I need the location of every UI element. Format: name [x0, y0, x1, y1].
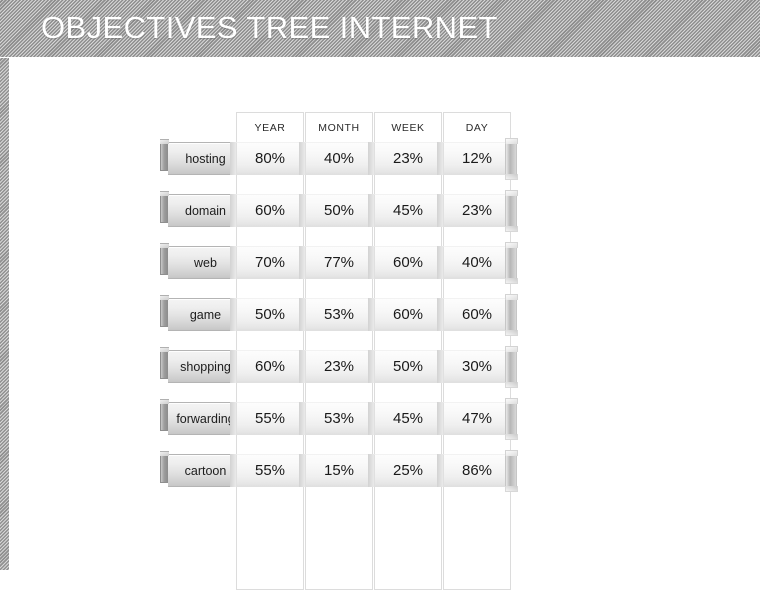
- cell-web-month[interactable]: 77%: [305, 246, 373, 279]
- cell-value: 15%: [324, 462, 354, 479]
- cell-web-week[interactable]: 60%: [374, 246, 442, 279]
- cell-forwarding-year[interactable]: 55%: [236, 402, 304, 435]
- row-end-extrusion: [505, 350, 517, 383]
- column-header-year: YEAR: [237, 113, 303, 143]
- cell-value: 50%: [255, 306, 285, 323]
- row-end-extrusion: [505, 194, 517, 227]
- cell-value: 40%: [462, 254, 492, 271]
- cell-domain-day[interactable]: 23%: [443, 194, 511, 227]
- cell-value: 50%: [324, 202, 354, 219]
- cell-domain-week[interactable]: 45%: [374, 194, 442, 227]
- cell-game-month[interactable]: 53%: [305, 298, 373, 331]
- cell-value: 50%: [393, 358, 423, 375]
- cell-domain-year[interactable]: 60%: [236, 194, 304, 227]
- cell-value: 86%: [462, 462, 492, 479]
- column-header-day: DAY: [444, 113, 510, 143]
- row-end-extrusion: [505, 402, 517, 435]
- column-header-week: WEEK: [375, 113, 441, 143]
- cell-forwarding-month[interactable]: 53%: [305, 402, 373, 435]
- cell-cartoon-week[interactable]: 25%: [374, 454, 442, 487]
- cell-value: 80%: [255, 150, 285, 167]
- row-end-extrusion: [505, 454, 517, 487]
- cell-hosting-year[interactable]: 80%: [236, 142, 304, 175]
- row-label-text: game: [190, 308, 221, 322]
- cell-shopping-month[interactable]: 23%: [305, 350, 373, 383]
- cell-hosting-month[interactable]: 40%: [305, 142, 373, 175]
- cell-value: 53%: [324, 306, 354, 323]
- cell-cartoon-day[interactable]: 86%: [443, 454, 511, 487]
- cell-value: 60%: [462, 306, 492, 323]
- cell-value: 47%: [462, 410, 492, 427]
- cell-value: 60%: [393, 306, 423, 323]
- cell-domain-month[interactable]: 50%: [305, 194, 373, 227]
- cell-value: 12%: [462, 150, 492, 167]
- cell-shopping-year[interactable]: 60%: [236, 350, 304, 383]
- cell-shopping-day[interactable]: 30%: [443, 350, 511, 383]
- cell-forwarding-week[interactable]: 45%: [374, 402, 442, 435]
- cell-value: 60%: [255, 358, 285, 375]
- row-label-text: web: [194, 256, 217, 270]
- objectives-table: YEARMONTHWEEKDAYhosting80%40%23%12%domai…: [0, 58, 760, 570]
- cell-value: 23%: [324, 358, 354, 375]
- column-header-month: MONTH: [306, 113, 372, 143]
- row-label-text: hosting: [185, 152, 225, 166]
- cell-value: 55%: [255, 462, 285, 479]
- cell-web-day[interactable]: 40%: [443, 246, 511, 279]
- row-end-extrusion: [505, 298, 517, 331]
- cell-game-year[interactable]: 50%: [236, 298, 304, 331]
- cell-cartoon-month[interactable]: 15%: [305, 454, 373, 487]
- cell-value: 53%: [324, 410, 354, 427]
- slide-header-band: OBJECTIVES TREE INTERNET: [0, 0, 760, 58]
- cell-value: 77%: [324, 254, 354, 271]
- cell-hosting-week[interactable]: 23%: [374, 142, 442, 175]
- row-label-text: domain: [185, 204, 226, 218]
- cell-value: 45%: [393, 410, 423, 427]
- page-title: OBJECTIVES TREE INTERNET: [41, 11, 498, 45]
- row-end-extrusion: [505, 246, 517, 279]
- cell-value: 60%: [255, 202, 285, 219]
- cell-forwarding-day[interactable]: 47%: [443, 402, 511, 435]
- cell-web-year[interactable]: 70%: [236, 246, 304, 279]
- cell-value: 40%: [324, 150, 354, 167]
- cell-value: 55%: [255, 410, 285, 427]
- cell-value: 25%: [393, 462, 423, 479]
- row-label-text: forwarding: [176, 412, 234, 426]
- cell-value: 23%: [393, 150, 423, 167]
- cell-game-day[interactable]: 60%: [443, 298, 511, 331]
- cell-value: 70%: [255, 254, 285, 271]
- cell-value: 23%: [462, 202, 492, 219]
- cell-shopping-week[interactable]: 50%: [374, 350, 442, 383]
- cell-value: 30%: [462, 358, 492, 375]
- cell-game-week[interactable]: 60%: [374, 298, 442, 331]
- row-label-text: cartoon: [185, 464, 227, 478]
- row-end-extrusion: [505, 142, 517, 175]
- cell-value: 60%: [393, 254, 423, 271]
- cell-cartoon-year[interactable]: 55%: [236, 454, 304, 487]
- row-label-text: shopping: [180, 360, 231, 374]
- cell-hosting-day[interactable]: 12%: [443, 142, 511, 175]
- cell-value: 45%: [393, 202, 423, 219]
